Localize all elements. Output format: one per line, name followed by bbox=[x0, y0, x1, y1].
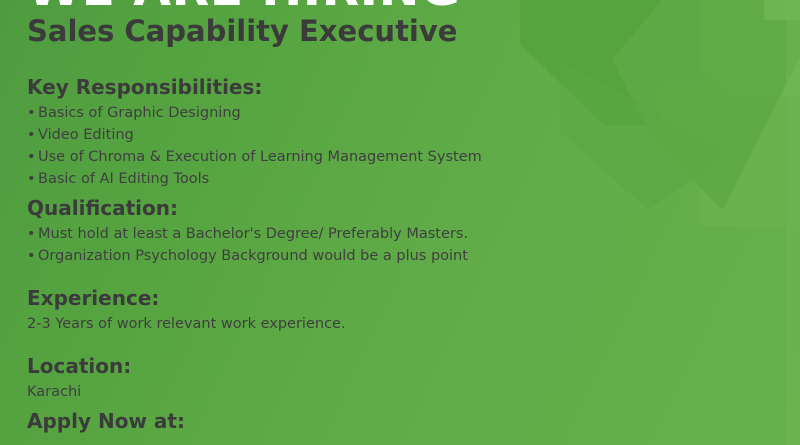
page-title: Sales Capability Executive bbox=[27, 17, 457, 46]
list-item: •Basic of AI Editing Tools bbox=[27, 168, 482, 190]
location-text: Karachi bbox=[27, 381, 131, 403]
section-heading-location: Location: bbox=[27, 355, 131, 378]
list-item-label: Video Editing bbox=[38, 127, 134, 143]
list-item: •Basics of Graphic Designing bbox=[27, 102, 482, 124]
section-experience: Experience: 2-3 Years of work relevant w… bbox=[27, 287, 346, 335]
section-responsibilities: Key Responsibilities: •Basics of Graphic… bbox=[27, 76, 482, 190]
bullet-icon: • bbox=[27, 168, 38, 190]
bullet-icon: • bbox=[27, 102, 38, 124]
list-item-label: Organization Psychology Background would… bbox=[38, 248, 468, 264]
section-qualification: Qualification: •Must hold at least a Bac… bbox=[27, 197, 468, 267]
list-item-label: Basic of AI Editing Tools bbox=[38, 171, 209, 187]
list-item-label: Must hold at least a Bachelor's Degree/ … bbox=[38, 226, 468, 242]
section-heading-apply: Apply Now at: bbox=[27, 410, 185, 433]
bullet-icon: • bbox=[27, 223, 38, 245]
list-item-label: Basics of Graphic Designing bbox=[38, 105, 241, 121]
section-heading-qualification: Qualification: bbox=[27, 197, 468, 220]
section-heading-responsibilities: Key Responsibilities: bbox=[27, 76, 482, 99]
section-heading-experience: Experience: bbox=[27, 287, 346, 310]
list-item-label: Use of Chroma & Execution of Learning Ma… bbox=[38, 149, 482, 165]
list-item: •Must hold at least a Bachelor's Degree/… bbox=[27, 223, 468, 245]
bullet-icon: • bbox=[27, 146, 38, 168]
experience-text: 2-3 Years of work relevant work experien… bbox=[27, 313, 346, 335]
list-item: •Video Editing bbox=[27, 124, 482, 146]
bullet-icon: • bbox=[27, 124, 38, 146]
poster-content: WE ARE HIRING Sales Capability Executive… bbox=[0, 0, 800, 445]
job-posting-poster: WE ARE HIRING Sales Capability Executive… bbox=[0, 0, 800, 445]
list-item: •Organization Psychology Background woul… bbox=[27, 245, 468, 267]
section-location: Location: Karachi bbox=[27, 355, 131, 403]
list-item: •Use of Chroma & Execution of Learning M… bbox=[27, 146, 482, 168]
bullet-icon: • bbox=[27, 245, 38, 267]
section-apply: Apply Now at: bbox=[27, 410, 185, 436]
hiring-banner: WE ARE HIRING bbox=[27, 0, 461, 13]
